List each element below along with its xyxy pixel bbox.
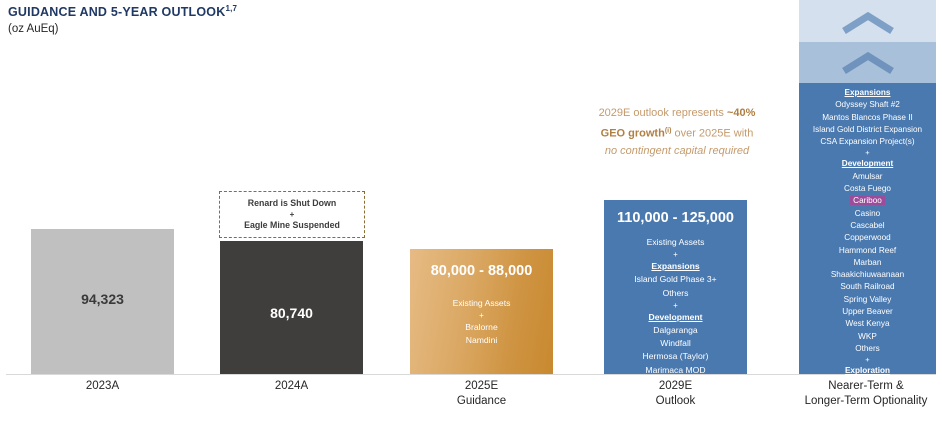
x-axis-label-line-1: 2025E xyxy=(410,379,553,394)
list-item: Hammond Reef xyxy=(799,245,936,257)
x-axis-label-2029e: 2029E Outlook xyxy=(604,379,747,409)
page-subtitle: (oz AuEq) xyxy=(8,23,237,35)
x-axis-label-line-1: Nearer-Term & xyxy=(790,379,942,394)
x-axis-label-line-1: 2024A xyxy=(220,379,363,394)
x-axis-label-line-1: 2023A xyxy=(31,379,174,394)
list-item: West Kenya xyxy=(799,318,936,330)
annotation-part-1: 2029E outlook represents xyxy=(599,107,727,119)
list-item: + xyxy=(410,310,553,321)
callout-line-2: Eagle Mine Suspended xyxy=(244,219,340,232)
list-item: Odyssey Shaft #2 xyxy=(799,99,936,111)
x-axis-label-2025e: 2025E Guidance xyxy=(410,379,553,409)
x-axis-label-2023a: 2023A xyxy=(31,379,174,394)
bar-2029e: 110,000 - 125,000 Existing Assets + Expa… xyxy=(604,200,747,374)
list-item: Marban xyxy=(799,257,936,269)
list-item: Dalgaranga xyxy=(604,324,747,337)
list-item: Windfall xyxy=(604,337,747,350)
list-item: Marimaca MOD xyxy=(604,364,747,377)
list-item: Upper Beaver xyxy=(799,306,936,318)
bar-2024a: 80,740 xyxy=(220,241,363,374)
optionality-band-middle xyxy=(799,42,936,83)
x-axis-line xyxy=(6,374,936,375)
title-block: GUIDANCE AND 5-YEAR OUTLOOK1,7 (oz AuEq) xyxy=(8,4,237,35)
page-title-superscript: 1,7 xyxy=(225,4,237,13)
list-header-expansions: Expansions xyxy=(799,87,936,99)
list-item: + xyxy=(799,355,936,365)
list-item: Spring Valley xyxy=(799,294,936,306)
list-item: CSA Expansion Project(s) xyxy=(799,136,936,148)
x-axis-label-line-2: Guidance xyxy=(410,394,553,409)
annotation-2029-growth: 2029E outlook represents ~40% GEO growth… xyxy=(598,105,756,160)
list-item: + xyxy=(604,300,747,311)
list-item: Island Gold Phase 3+ xyxy=(604,273,747,286)
x-axis-label-line-2: Longer-Term Optionality xyxy=(790,394,942,409)
x-axis-label-line-2: Outlook xyxy=(604,394,747,409)
optionality-column: Expansions Odyssey Shaft #2 Mantos Blanc… xyxy=(799,0,936,374)
list-item: WKP xyxy=(799,331,936,343)
list-item: Amulsar xyxy=(799,171,936,183)
page-title: GUIDANCE AND 5-YEAR OUTLOOK1,7 xyxy=(8,4,237,19)
list-item: Copperwood xyxy=(799,232,936,244)
callout-line-1: Renard is Shut Down xyxy=(248,197,336,210)
optionality-items: Expansions Odyssey Shaft #2 Mantos Blanc… xyxy=(799,87,936,427)
list-item-highlight: Cariboo xyxy=(850,196,885,205)
list-item: Existing Assets xyxy=(604,236,747,249)
callout-plus: + xyxy=(290,210,295,219)
list-header-development: Development xyxy=(604,311,747,324)
optionality-band-upper xyxy=(799,0,936,42)
bar-2025e: 80,000 - 88,000 Existing Assets + Bralor… xyxy=(410,249,553,374)
bar-2029e-value: 110,000 - 125,000 xyxy=(604,210,747,226)
list-item: Hermosa (Taylor) xyxy=(604,350,747,363)
list-item: Shaakichiuwaanaan xyxy=(799,269,936,281)
x-axis-label-optionality: Nearer-Term & Longer-Term Optionality xyxy=(790,379,942,409)
list-header-exploration: Exploration xyxy=(799,365,936,377)
list-item: Casino xyxy=(799,208,936,220)
annotation-italic: no contingent capital required xyxy=(605,145,749,157)
list-item: Island Gold District Expansion xyxy=(799,124,936,136)
list-item: Namdini xyxy=(410,334,553,347)
bar-2025e-value: 80,000 - 88,000 xyxy=(410,263,553,279)
list-item-highlighted: Cariboo xyxy=(799,195,936,207)
bar-2023a: 94,323 xyxy=(31,229,174,374)
annotation-part-2: over 2025E with xyxy=(671,128,753,140)
bar-2029e-items: Existing Assets + Expansions Island Gold… xyxy=(604,236,747,390)
list-header-expansions: Expansions xyxy=(604,260,747,273)
list-item: South Railroad xyxy=(799,281,936,293)
x-axis-label-line-1: 2029E xyxy=(604,379,747,394)
list-item: Others xyxy=(799,343,936,355)
chart-canvas: GUIDANCE AND 5-YEAR OUTLOOK1,7 (oz AuEq)… xyxy=(0,0,942,410)
bar-2024a-value: 80,740 xyxy=(220,305,363,321)
list-item: Existing Assets xyxy=(410,297,553,310)
list-item: Mantos Blancos Phase II xyxy=(799,112,936,124)
callout-renard-eagle: Renard is Shut Down + Eagle Mine Suspend… xyxy=(219,191,365,238)
chevron-up-icon xyxy=(841,12,895,34)
list-item: Cascabel xyxy=(799,220,936,232)
list-item: Others xyxy=(799,414,936,426)
list-item: Others xyxy=(604,287,747,300)
list-header-development: Development xyxy=(799,158,936,170)
bar-2025e-items: Existing Assets + Bralorne Namdini xyxy=(410,297,553,348)
list-item: + xyxy=(799,148,936,158)
bar-2023a-value: 94,323 xyxy=(31,291,174,307)
x-axis-label-2024a: 2024A xyxy=(220,379,363,394)
list-item: Bralorne xyxy=(410,321,553,334)
list-item: Costa Fuego xyxy=(799,183,936,195)
page-title-text: GUIDANCE AND 5-YEAR OUTLOOK xyxy=(8,5,225,19)
list-item: + xyxy=(604,249,747,260)
chevron-up-icon xyxy=(841,52,895,74)
